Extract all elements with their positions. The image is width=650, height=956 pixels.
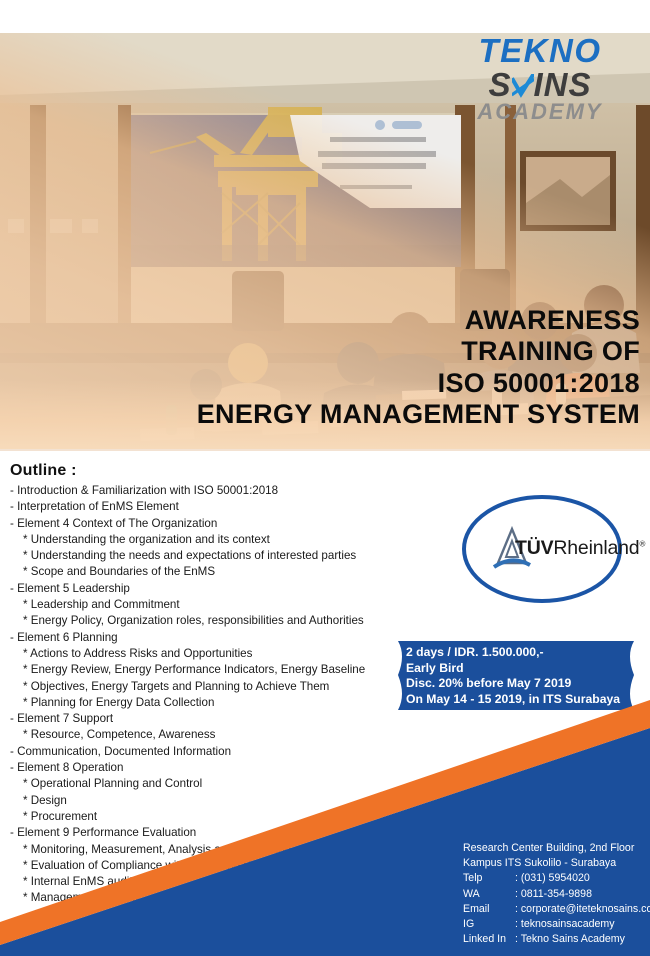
contact-info: Research Center Building, 2nd Floor Kamp…: [463, 841, 650, 947]
logo-academy-text: ACADEMY: [452, 101, 628, 123]
outline-item: * Understanding the needs and expectatio…: [10, 548, 410, 564]
logo-sains-prefix: S: [488, 68, 511, 101]
outline-item: * Energy Policy, Organization roles, res…: [10, 613, 410, 629]
contact-value: : (031) 5954020: [515, 871, 590, 886]
outline-item: - Element 5 Leadership: [10, 581, 410, 597]
price-line-1: 2 days / IDR. 1.500.000,-: [406, 645, 641, 661]
contact-row: Telp: (031) 5954020: [463, 871, 650, 886]
outline-item: - Element 4 Context of The Organization: [10, 516, 410, 532]
tuv-wordmark: TÜVRheinland®: [515, 537, 645, 560]
contact-address-line-1: Research Center Building, 2nd Floor: [463, 841, 650, 856]
outline-item: * Understanding the organization and its…: [10, 532, 410, 548]
tuv-name-rest: Rheinland: [553, 537, 639, 559]
contact-label: Telp: [463, 871, 515, 886]
logo-sains-text: S INS: [452, 68, 628, 101]
outline-item: - Interpretation of EnMS Element: [10, 499, 410, 515]
logo-tekno-text: TEKNO: [452, 34, 628, 67]
contact-address-line-2: Kampus ITS Sukolilo - Surabaya: [463, 856, 650, 871]
contact-row: Email: corporate@iteteknosains.co.id: [463, 902, 650, 917]
tuv-rheinland-logo: TÜVRheinland®: [458, 495, 630, 605]
contact-label: Email: [463, 902, 515, 917]
contact-value: : 0811-354-9898: [515, 887, 592, 902]
contact-row: Linked In: Tekno Sains Academy: [463, 932, 650, 947]
price-line-3: Disc. 20% before May 7 2019: [406, 676, 641, 692]
checkmark-icon-svg: [512, 74, 534, 98]
poster-root: TEKNO S INS ACADEMY AWARENESS TRAINING O…: [0, 0, 650, 956]
outline-item: * Objectives, Energy Targets and Plannin…: [10, 679, 410, 695]
title-line-1: AWARENESS: [160, 305, 640, 336]
outline-item: * Scope and Boundaries of the EnMS: [10, 564, 410, 580]
outline-heading: Outline :: [10, 462, 410, 480]
logo-sains-suffix: INS: [534, 68, 592, 101]
outline-item: - Introduction & Familiarization with IS…: [10, 483, 410, 499]
registered-mark-icon: ®: [639, 540, 645, 549]
contact-rows: Telp: (031) 5954020WA: 0811-354-9898Emai…: [463, 871, 650, 947]
page-title: AWARENESS TRAINING OF ISO 50001:2018 ENE…: [160, 305, 640, 430]
contact-value: : Tekno Sains Academy: [515, 932, 625, 947]
top-white-margin: [0, 0, 650, 33]
price-details: 2 days / IDR. 1.500.000,- Early Bird Dis…: [406, 645, 641, 707]
outline-item: * Actions to Address Risks and Opportuni…: [10, 646, 410, 662]
title-line-4: ENERGY MANAGEMENT SYSTEM: [160, 399, 640, 430]
contact-row: WA: 0811-354-9898: [463, 887, 650, 902]
title-line-2: TRAINING OF: [160, 336, 640, 367]
brand-logo: TEKNO S INS ACADEMY: [452, 34, 628, 123]
title-line-3: ISO 50001:2018: [160, 368, 640, 399]
checkmark-icon: [512, 70, 534, 94]
contact-value: : corporate@iteteknosains.co.id: [515, 902, 650, 917]
tuv-name-bold: TÜV: [515, 537, 553, 559]
contact-row: IG: teknosainsacademy: [463, 917, 650, 932]
outline-item: * Energy Review, Energy Performance Indi…: [10, 662, 410, 678]
contact-label: IG: [463, 917, 515, 932]
outline-item: * Leadership and Commitment: [10, 597, 410, 613]
photo-bottom-divider: [0, 449, 650, 451]
contact-label: Linked In: [463, 932, 515, 947]
contact-label: WA: [463, 887, 515, 902]
price-line-2: Early Bird: [406, 661, 641, 677]
outline-item: - Element 6 Planning: [10, 630, 410, 646]
contact-value: : teknosainsacademy: [515, 917, 615, 932]
